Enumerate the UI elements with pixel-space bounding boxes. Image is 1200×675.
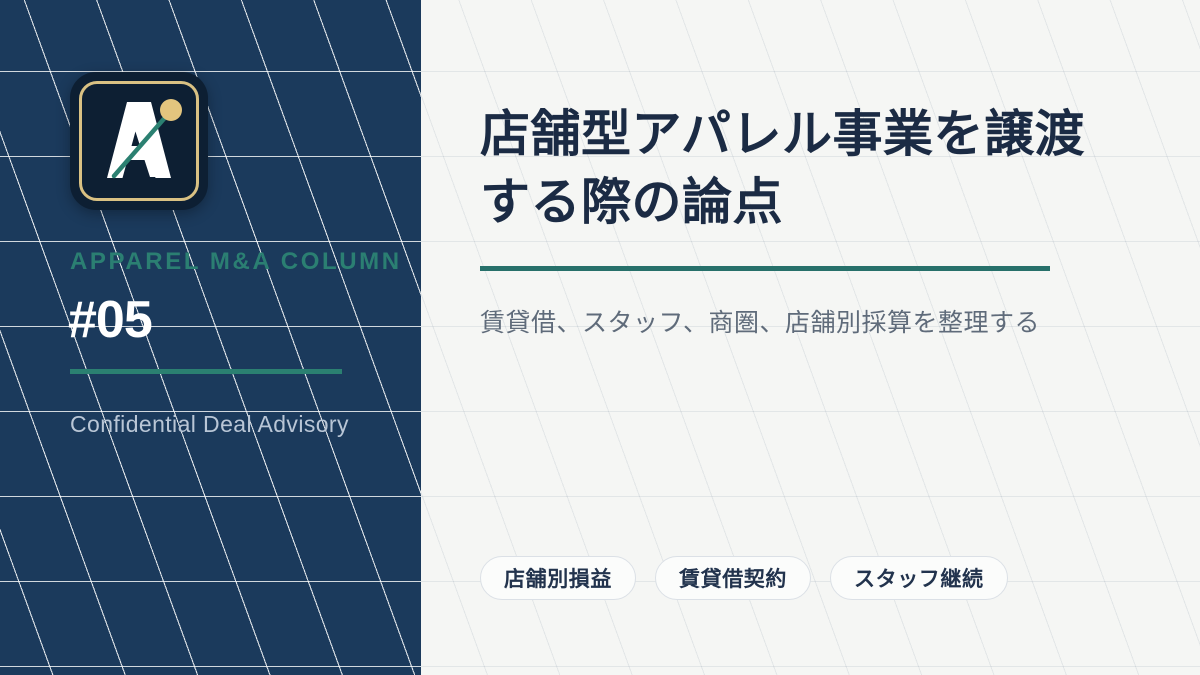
title-accent-rule [480, 266, 1050, 271]
brand-logo-badge [70, 72, 208, 210]
left-brand-panel: APPAREL M&A COLUMN #05 Confidential Deal… [0, 0, 421, 675]
tag-chip-2[interactable]: スタッフ継続 [830, 556, 1008, 600]
column-cover-card: APPAREL M&A COLUMN #05 Confidential Deal… [0, 0, 1200, 675]
left-accent-rule [70, 369, 342, 374]
right-content-inner: 店舗型アパレル事業を譲渡する際の論点 賃貸借、スタッフ、商圏、店舗別採算を整理す… [421, 0, 1200, 675]
right-content-panel: 店舗型アパレル事業を譲渡する際の論点 賃貸借、スタッフ、商圏、店舗別採算を整理す… [421, 0, 1200, 675]
diagonal-line-pattern [0, 0, 421, 675]
confidentiality-caption: Confidential Deal Advisory [70, 411, 349, 438]
tag-chip-0[interactable]: 店舗別損益 [480, 556, 636, 600]
eyebrow-label: APPAREL M&A COLUMN [70, 248, 402, 276]
page-subtitle: 賃貸借、スタッフ、商圏、店舗別採算を整理する [480, 305, 1120, 343]
tag-chip-1[interactable]: 賃貸借契約 [655, 556, 811, 600]
issue-number: #05 [68, 294, 152, 346]
horizontal-line-pattern [0, 0, 421, 675]
page-title: 店舗型アパレル事業を譲渡する際の論点 [480, 100, 1100, 236]
apparel-a-monogram-icon [70, 72, 208, 210]
tag-row: 店舗別損益 賃貸借契約 スタッフ継続 [480, 556, 1008, 600]
